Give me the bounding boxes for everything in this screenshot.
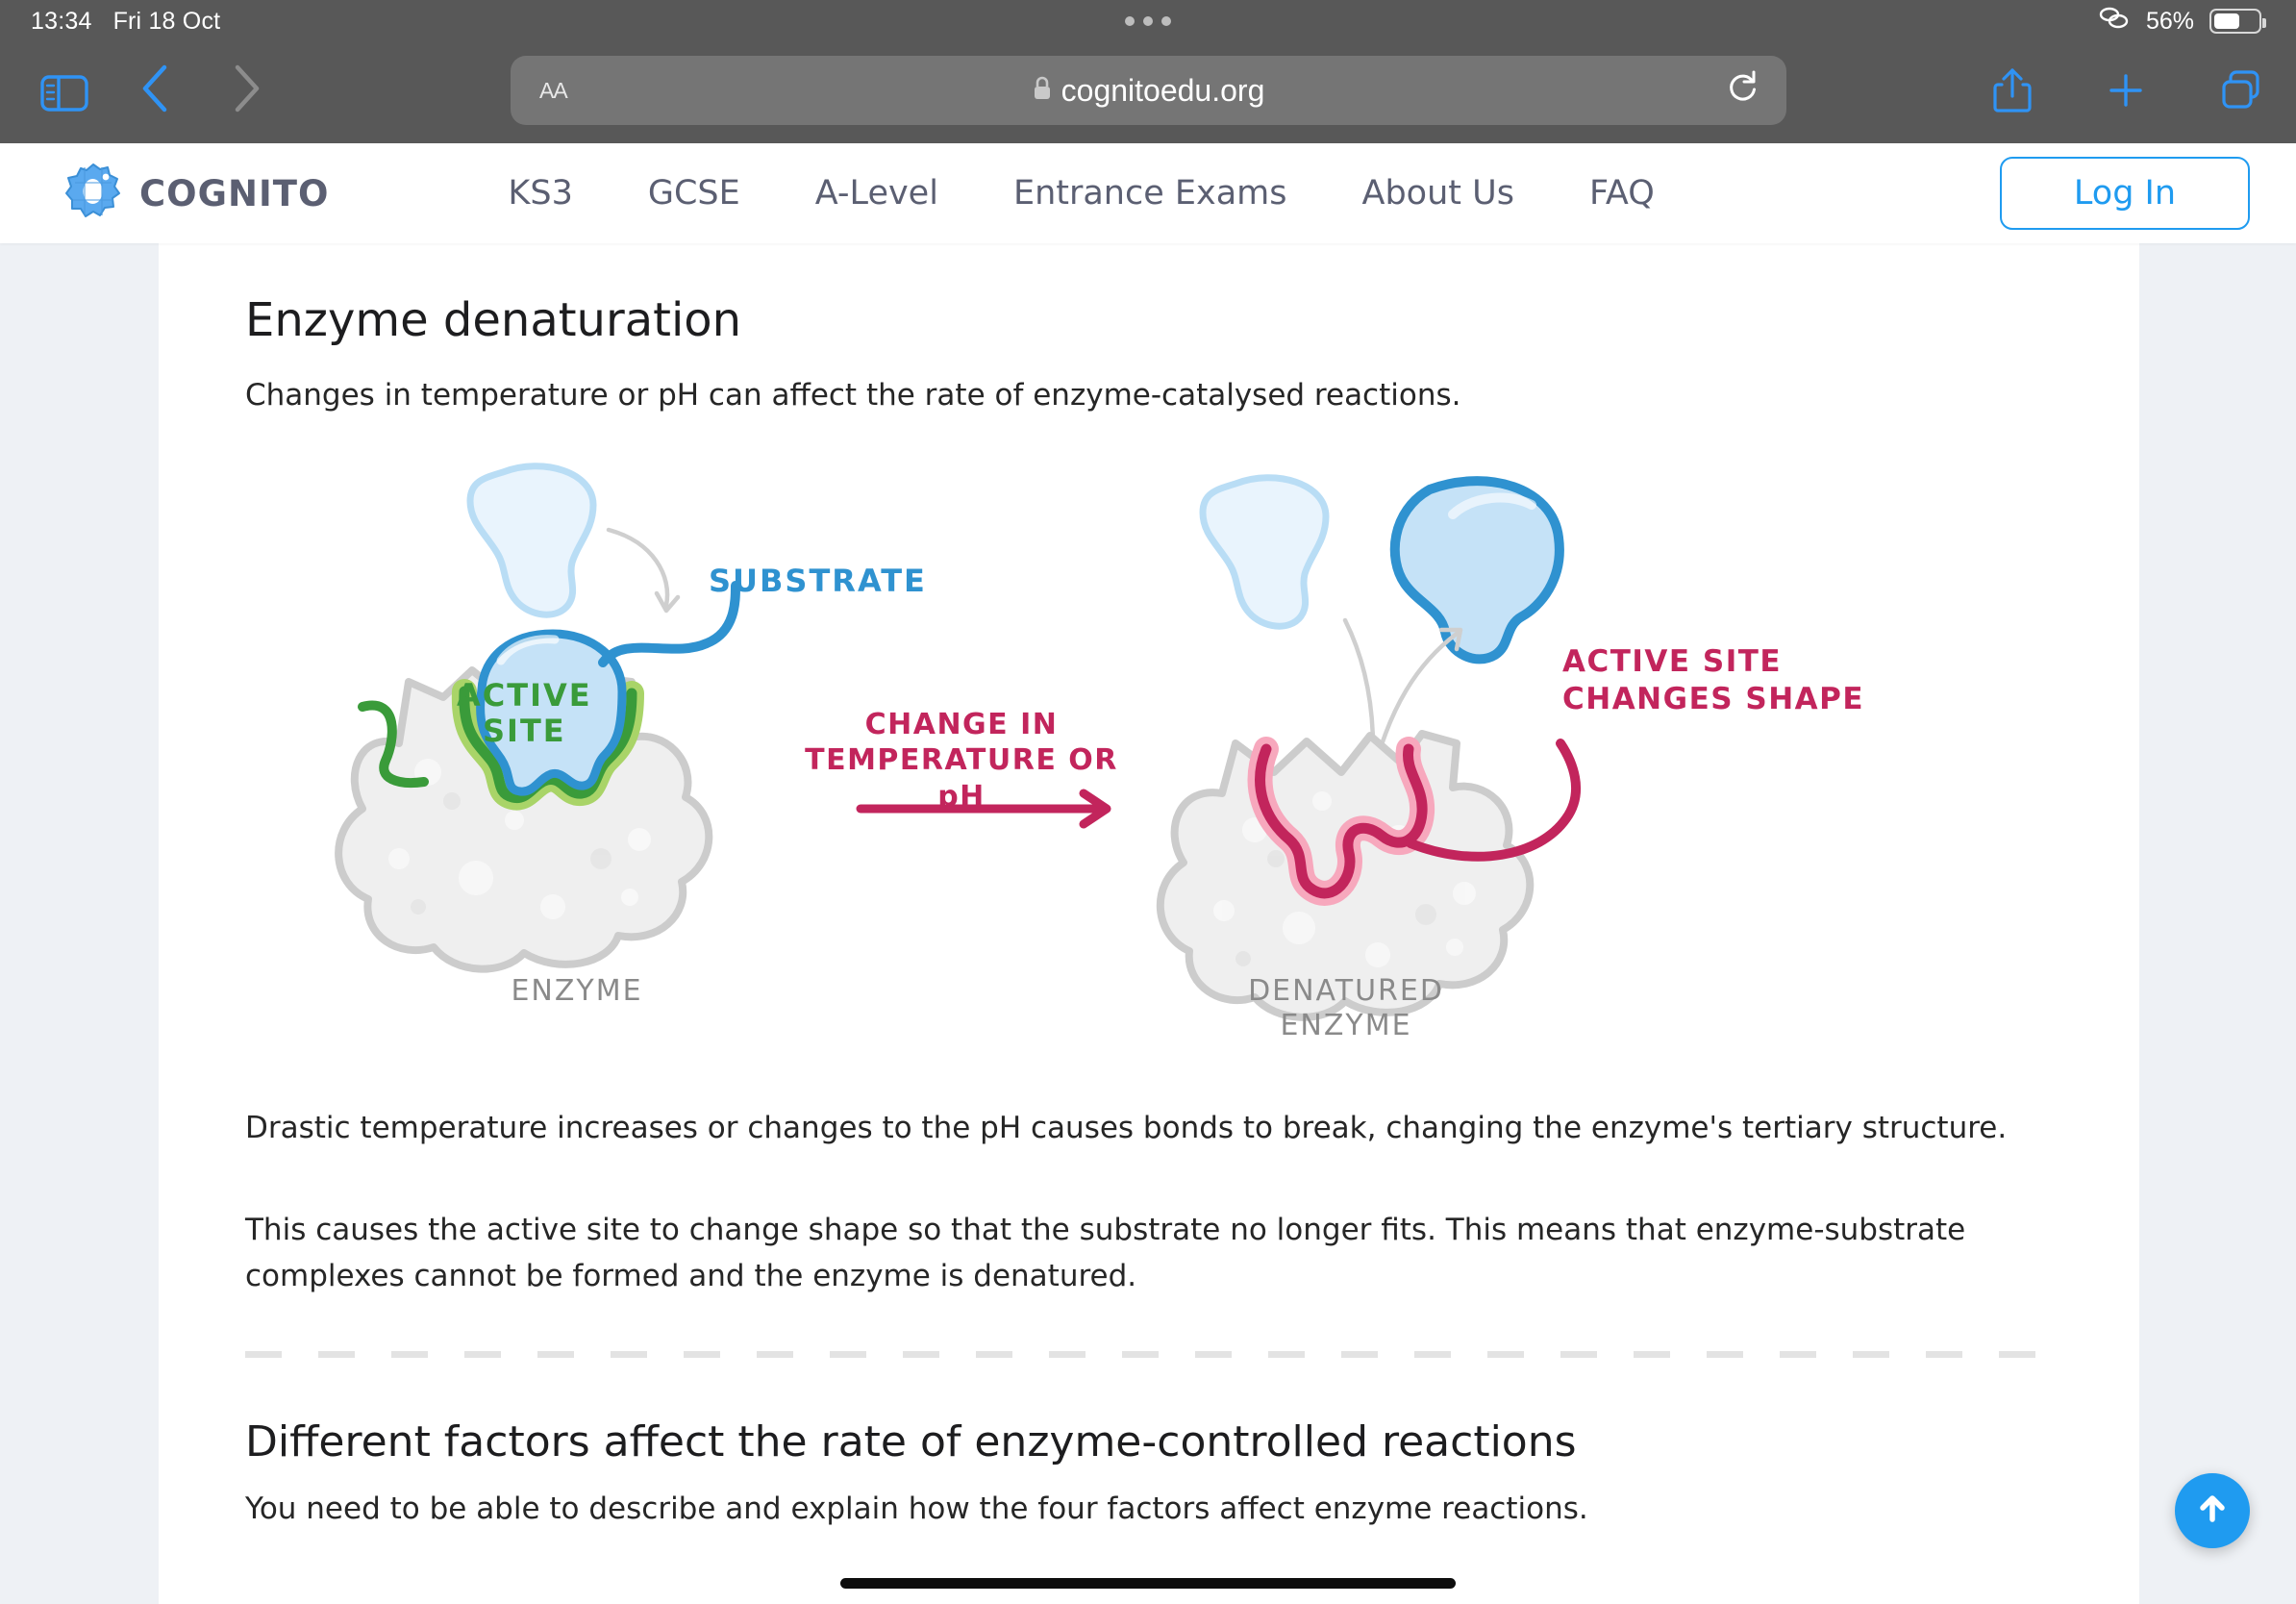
- plus-icon[interactable]: [2106, 70, 2146, 115]
- multitask-dots[interactable]: [1125, 16, 1171, 26]
- article-page: Enzyme denaturation Changes in temperatu…: [159, 243, 2139, 1604]
- safari-toolbar: AA cognitoedu.org: [0, 42, 2296, 143]
- caption-denatured-enzyme: DENATURED ENZYME: [1178, 974, 1514, 1043]
- section-divider: [245, 1351, 2053, 1358]
- url-text: cognitoedu.org: [1061, 73, 1265, 109]
- nav-item-entrance-exams[interactable]: Entrance Exams: [976, 174, 1325, 213]
- tabs-icon[interactable]: [2219, 68, 2263, 117]
- toolbar-actions: [1992, 66, 2263, 119]
- site-brand[interactable]: COGNITO: [63, 162, 329, 226]
- paragraph-2: This causes the active site to change sh…: [245, 1207, 1976, 1299]
- share-icon[interactable]: [1992, 66, 2033, 119]
- free-substrate-left: [470, 466, 593, 614]
- nav-item-about-us[interactable]: About Us: [1325, 174, 1552, 213]
- status-date: Fri 18 Oct: [113, 8, 221, 36]
- nav-item-ks3[interactable]: KS3: [470, 174, 610, 213]
- web-content: COGNITO KS3 GCSE A-Level Entrance Exams …: [0, 143, 2296, 1604]
- label-active-site-changes-shape: ACTIVE SITE CHANGES SHAPE: [1562, 643, 1880, 718]
- status-bar-left: 13:34 Fri 18 Oct: [31, 8, 220, 36]
- page-title: Enzyme denaturation: [245, 293, 2053, 347]
- lock-icon: [1033, 73, 1052, 109]
- battery-percent: 56%: [2146, 8, 2194, 36]
- label-active-site: ACTIVE SITE: [457, 678, 592, 749]
- address-bar[interactable]: AA cognitoedu.org: [511, 56, 1786, 125]
- label-substrate: SUBSTRATE: [709, 563, 927, 599]
- arrow-up-icon: [2193, 1490, 2232, 1533]
- cognito-gear-logo: [63, 162, 123, 226]
- home-indicator[interactable]: [840, 1578, 1456, 1589]
- released-substrate-right: [1395, 481, 1560, 659]
- ios-status-bar: 13:34 Fri 18 Oct 56%: [0, 0, 2296, 42]
- site-navbar: COGNITO KS3 GCSE A-Level Entrance Exams …: [0, 143, 2296, 243]
- site-nav-links: KS3 GCSE A-Level Entrance Exams About Us…: [470, 174, 1691, 213]
- section-2-lead: You need to be able to describe and expl…: [245, 1490, 2053, 1530]
- forward-button[interactable]: [231, 63, 263, 123]
- chain-link-icon: [2098, 6, 2131, 38]
- status-time: 13:34: [31, 8, 92, 36]
- login-button[interactable]: Log In: [2000, 157, 2250, 230]
- scroll-to-top-button[interactable]: [2175, 1473, 2250, 1548]
- nav-item-gcse[interactable]: GCSE: [611, 174, 778, 213]
- page-lead: Changes in temperature or pH can affect …: [245, 376, 2053, 416]
- nav-item-faq[interactable]: FAQ: [1552, 174, 1692, 213]
- sidebar-icon[interactable]: [40, 74, 88, 113]
- back-button[interactable]: [138, 63, 171, 123]
- url-display: cognitoedu.org: [511, 73, 1786, 109]
- caption-enzyme: ENZYME: [428, 974, 726, 1009]
- status-bar-right: 56%: [2098, 6, 2261, 38]
- free-substrate-right-pale: [1203, 478, 1326, 626]
- battery-icon: [2209, 9, 2261, 34]
- label-change-in-temperature-or-ph: CHANGE IN TEMPERATURE OR pH: [803, 707, 1120, 815]
- paragraph-1: Drastic temperature increases or changes…: [245, 1105, 2053, 1151]
- brand-name: COGNITO: [139, 173, 329, 214]
- nav-item-a-level[interactable]: A-Level: [778, 174, 976, 213]
- section-2-title: Different factors affect the rate of enz…: [245, 1417, 2053, 1466]
- enzyme-denaturation-diagram: ACTIVE SITE SUBSTRATE CHANGE IN TEMPERAT…: [245, 455, 2053, 1070]
